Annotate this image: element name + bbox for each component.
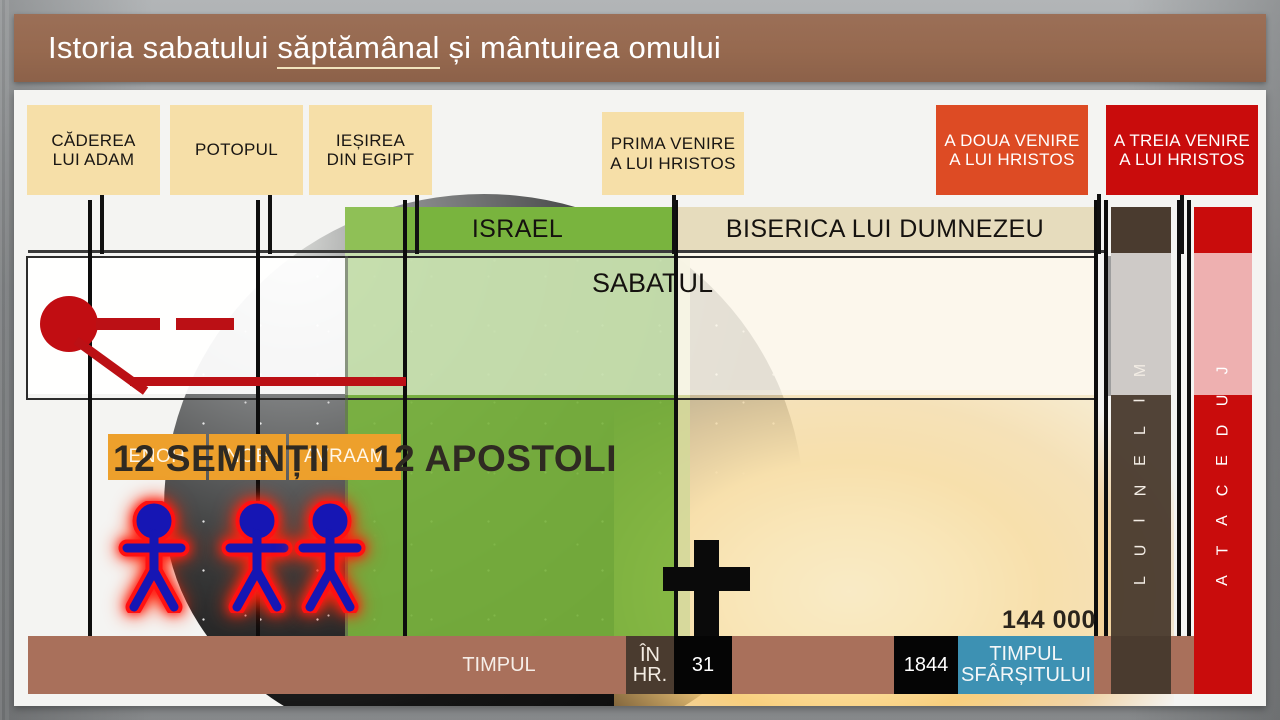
millennium-letter: L xyxy=(1132,425,1150,435)
millennium-letter: U xyxy=(1132,544,1150,557)
pointer-dash-2 xyxy=(176,318,234,330)
judgment-letter: E xyxy=(1214,454,1232,466)
era-band-israel-leadin xyxy=(345,207,403,251)
card-stem-4 xyxy=(672,194,676,254)
slide-title-bar: Istoria sabatului săptămânal și mântuire… xyxy=(14,14,1266,82)
event-card-caderea-line-1: CĂDEREA xyxy=(51,131,135,150)
event-card-prima-venire-line-2: A LUI HRISTOS xyxy=(610,154,735,173)
stick-figure-avraam xyxy=(293,501,367,613)
page-title-underlined: săptămânal xyxy=(277,30,439,69)
divider-rule-1 xyxy=(88,200,92,694)
page-title-after: și mântuirea omului xyxy=(440,30,721,65)
pointer-baseline xyxy=(130,377,406,386)
event-card-caderea-line-2: LUI ADAM xyxy=(51,150,135,169)
event-card-prima-venire-line-1: PRIMA VENIRE xyxy=(610,134,735,153)
ribbon-timpul-label: TIMPUL xyxy=(462,654,535,677)
slide-canvas: ISRAEL BISERICA LUI DUMNEZEU SABATUL xyxy=(14,90,1266,706)
event-card-iesirea-line-2: DIN EGIPT xyxy=(327,150,415,169)
era-band-church-label: BISERICA LUI DUMNEZEU xyxy=(726,215,1044,244)
millennium-letter: I xyxy=(1132,397,1150,402)
ribbon-year-31-label: 31 xyxy=(692,654,714,677)
event-card-potopul[interactable]: POTOPUL xyxy=(170,105,303,195)
judgment-letter: J xyxy=(1214,366,1232,375)
event-card-potopul-line-1: POTOPUL xyxy=(195,140,278,159)
event-card-a-treia-venire-line-1: A TREIA VENIRE xyxy=(1114,131,1250,150)
era-band-church: BISERICA LUI DUMNEZEU xyxy=(676,207,1094,251)
millennium-band-head xyxy=(1111,207,1171,253)
ribbon-timpul-sfarsitului-line-1: TIMPUL xyxy=(989,644,1062,665)
judgment-band-head xyxy=(1194,207,1252,253)
millennium-strip-foot xyxy=(1111,636,1171,694)
ribbon-segment-timpul: TIMPUL xyxy=(28,636,626,694)
millennium-letter: I xyxy=(1132,517,1150,522)
big-label-tribes: 12 SEMINȚII xyxy=(113,438,330,480)
judgment-letter: A xyxy=(1214,514,1232,526)
judgment-letter: A xyxy=(1214,574,1232,586)
pointer-dot xyxy=(40,296,98,352)
card-stem-1 xyxy=(100,194,104,254)
judgment-letter: U xyxy=(1214,394,1232,407)
sealed-count-label: 144 000 xyxy=(1002,606,1096,635)
stick-figure-noe xyxy=(220,501,294,613)
millennium-letter: N xyxy=(1132,484,1150,497)
event-card-a-treia-venire[interactable]: A TREIA VENIRE A LUI HRISTOS xyxy=(1106,105,1258,195)
divider-rule-8 xyxy=(1187,200,1191,694)
big-label-apostles: 12 APOSTOLI xyxy=(373,438,617,480)
divider-rule-7 xyxy=(1177,200,1181,694)
ribbon-year-1844-label: 1844 xyxy=(904,654,949,677)
millennium-letter: L xyxy=(1132,575,1150,585)
event-card-iesirea-line-1: IEȘIREA xyxy=(327,131,415,150)
ribbon-segment-year-31: 31 xyxy=(674,636,732,694)
slide-stage: Istoria sabatului săptămânal și mântuire… xyxy=(0,0,1280,720)
event-card-prima-venire[interactable]: PRIMA VENIRE A LUI HRISTOS xyxy=(602,112,744,195)
event-card-caderea-lui-adam[interactable]: CĂDEREA LUI ADAM xyxy=(27,105,160,195)
millennium-strip: MILENIUL xyxy=(1111,270,1171,680)
millennium-letter: E xyxy=(1132,454,1150,466)
card-stem-2 xyxy=(268,194,272,254)
ribbon-in-hr-line-2: HR. xyxy=(633,665,667,685)
page-title: Istoria sabatului săptămânal și mântuire… xyxy=(48,30,721,66)
ribbon-segment-in-hr: ÎN HR. xyxy=(626,636,674,694)
page-title-before: Istoria sabatului xyxy=(48,30,277,65)
event-card-iesirea-din-egipt[interactable]: IEȘIREA DIN EGIPT xyxy=(309,105,432,195)
card-stem-5 xyxy=(1097,194,1101,254)
judgment-strip: JUDECATA xyxy=(1194,270,1252,680)
judgment-strip-foot xyxy=(1194,636,1252,694)
judgment-letter: T xyxy=(1214,545,1232,556)
judgment-letter: D xyxy=(1214,424,1232,437)
ribbon-segment-year-1844: 1844 xyxy=(894,636,958,694)
event-card-a-doua-venire-line-1: A DOUA VENIRE xyxy=(944,131,1079,150)
sabbath-label: SABATUL xyxy=(592,268,713,299)
card-stem-3 xyxy=(415,194,419,254)
pointer-dash-1 xyxy=(96,318,160,330)
ribbon-in-hr-line-1: ÎN xyxy=(640,645,660,665)
event-card-a-doua-venire-line-2: A LUI HRISTOS xyxy=(944,150,1079,169)
stick-figure-enoh xyxy=(117,501,191,613)
event-card-a-treia-venire-line-2: A LUI HRISTOS xyxy=(1114,150,1250,169)
ribbon-segment-timpul-sfarsitului: TIMPUL SFÂRȘITULUI xyxy=(958,636,1094,694)
ribbon-segment-gap xyxy=(732,636,894,694)
event-card-a-doua-venire[interactable]: A DOUA VENIRE A LUI HRISTOS xyxy=(936,105,1088,195)
judgment-letter: C xyxy=(1214,484,1232,497)
card-stem-6 xyxy=(1180,194,1184,254)
era-band-israel-label: ISRAEL xyxy=(472,215,563,244)
ribbon-timpul-sfarsitului-line-2: SFÂRȘITULUI xyxy=(961,665,1091,686)
millennium-letter: M xyxy=(1132,363,1150,377)
